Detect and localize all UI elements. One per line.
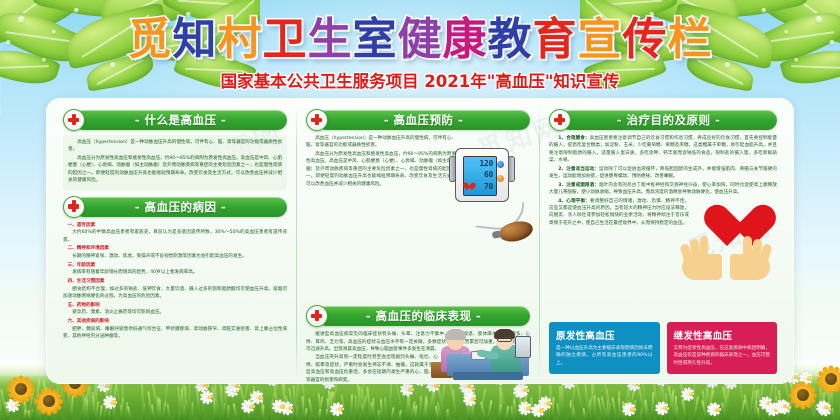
monitor-screen: 120 60 70 (463, 156, 497, 196)
title-char: 栏 (668, 18, 713, 62)
section-header-treatment: - 治疗目的及原则 - (549, 110, 777, 130)
monitor-button-blue (497, 161, 504, 168)
finger (700, 236, 709, 264)
paragraph: 当血压突升高到一定程度时甚至会出现剧烈头痛、呕吐、心悸、眩晕等症状，严重时会发生… (306, 354, 438, 384)
daisy-flower (710, 403, 724, 417)
desk-monitor (515, 336, 531, 358)
info-box-text: 是一种以血压升高为主要临床表现而病因尚未明确的独立疾病，占所有高血压患者的90%… (556, 345, 652, 367)
cause-text: 膳食结构不合理，如过多的钠盐、低钾饮食、大量饮酒、摄入过多的饱和脂肪酸均可使血压… (63, 286, 287, 301)
daisy-flower (534, 404, 548, 418)
treatment-item-title: 3、注意戒烟限酒： (558, 183, 599, 188)
finger (743, 236, 752, 264)
section-title-text: - 什么是高血压 - (135, 112, 227, 128)
title-char: 宣 (578, 18, 623, 62)
prevention-body: 高血压（hypertension）是一种动脉血压升高的慢性病，可伴有心、脑、肾等… (306, 135, 456, 188)
daisy-flower (521, 401, 535, 415)
section-title-bar: - 治疗目的及原则 - (560, 110, 777, 130)
poster-header: 觅知村卫生室健康教育宣传栏 国家基本公共卫生服务项目 2021年"高血压"知识宣… (0, 18, 840, 92)
causes-body: 一、遗传因素 大约60%的半数高血压患者有家族史。目前认为是多基因遗传所致，30… (63, 222, 287, 341)
grass-blade (308, 398, 314, 420)
daisy-flower (107, 395, 121, 409)
info-box-primary-hypertension: 原发性高血压 是一种以血压升高为主要临床表现而病因尚未明确的独立疾病，占所有高血… (549, 322, 659, 374)
title-char: 村 (218, 18, 263, 62)
grass-blade (561, 383, 564, 420)
title-char: 传 (623, 18, 668, 62)
daisy-flower (626, 403, 640, 417)
column-left: - 什么是高血压 - 高血压（hypertension）是一种动脉血压升高的慢性… (54, 106, 296, 378)
treatment-item: 3、注意戒烟限酒：烟叶内含有的尼古丁能中枢神经和交感神经兴奋，使心率加快，同时也… (549, 182, 777, 197)
daisy-flower (276, 400, 290, 414)
doctor-glasses-icon (497, 337, 512, 342)
grass-blade (350, 394, 353, 420)
cause-text: 大约60%的半数高血压患者有家族史。目前认为是多基因遗传所致，30%～50%的高… (63, 229, 287, 244)
grass-blade (591, 381, 593, 420)
paragraph: 高血压分为原发性高血压和继发性高血压，约90～95%的病例为原发性高血压。高血压… (306, 151, 456, 188)
title-char: 健 (398, 18, 443, 62)
sunflower (816, 364, 840, 394)
section-title-text: - 高血压的病因 - (135, 199, 227, 215)
title-char: 觅 (128, 18, 173, 62)
section-header-causes: - 高血压的病因 - (63, 197, 287, 217)
grass-blade (141, 384, 145, 420)
hand-left (680, 240, 724, 280)
section-header-prevention: - 高血压预防 - (306, 110, 530, 130)
grass-blade (166, 404, 170, 420)
info-box-title: 原发性高血压 (556, 328, 652, 342)
treatment-item: 4、心理平衡：要调整好自己的情绪，激动、恐惧、精神不佳，这些又都是使血压升高的原… (549, 198, 689, 228)
daisy-flower (403, 382, 417, 396)
daisy-flower (519, 383, 533, 397)
title-char: 康 (443, 18, 488, 62)
doctor-patient-illustration (429, 314, 537, 380)
section-title-text: - 治疗目的及原则 - (617, 112, 721, 128)
cause-title: 六、其他疾病的影响 (63, 318, 287, 325)
cause-title: 四、生活习惯因素 (63, 278, 287, 285)
paragraph: 高血压（hypertension）是一种动脉血压升高的慢性病，可伴有心、脑、肾等… (68, 139, 282, 154)
grass-blade (446, 409, 448, 420)
treatment-item: 2、注意适当运动：运动除了可以促进血液循环，降低胆固醇的生成外，并能增强肌肉、骨… (549, 166, 777, 181)
info-box-row: 原发性高血压 是一种以血压升高为主要临床表现而病因尚未明确的独立疾病，占所有高血… (549, 322, 777, 374)
daisy-flower (203, 390, 217, 404)
column-middle: - 高血压预防 - 高血压（hypertension）是一种动脉血压升高的慢性病… (297, 106, 539, 378)
cause-title: 五、药物的影响 (63, 302, 287, 309)
daisy-flower (245, 400, 259, 414)
treatment-item-title: 1、合理膳食： (558, 136, 589, 141)
what-is-hypertension-body: 高血压（hypertension）是一种动脉血压升高的慢性病，可伴有心、脑、肾等… (63, 135, 287, 190)
title-char: 卫 (263, 18, 308, 62)
patient-hair (445, 329, 466, 340)
grass-blade (384, 397, 387, 420)
section-title-bar: - 高血压预防 - (317, 110, 530, 130)
title-char: 生 (308, 18, 353, 62)
medical-cross-icon (306, 109, 328, 131)
poster-subtitle: 国家基本公共卫生服务项目 2021年"高血压"知识宣传 (0, 68, 840, 92)
grass-blade (128, 406, 133, 420)
poster-title: 觅知村卫生室健康教育宣传栏 (0, 18, 840, 62)
grass-blade (594, 395, 596, 420)
cause-text: 长期的精神紧张、激动、焦虑，受噪声或不良视觉刺激等因素也会引起高血压的发生。 (63, 253, 287, 260)
treatment-item-title: 2、注意适当运动： (558, 167, 599, 172)
cause-text: 避孕药、激素、消炎止痛药等均可影响血压。 (63, 309, 287, 316)
section-header-what-is-hypertension: - 什么是高血压 - (63, 110, 287, 130)
cause-title: 二、精神和环境因素 (63, 245, 287, 252)
hand-right (728, 240, 772, 280)
content-panel: 觅知网 觅知网 觅知网 - 什么是高血压 - 高血压（hypertension）… (46, 98, 794, 384)
info-box-secondary-hypertension: 继发性高血压 又称为症状性高血压，在这类疾病中病因明确，高血压仅是该种疾病的临床… (667, 322, 777, 374)
medical-cross-icon (63, 196, 85, 218)
grass-blade (487, 400, 492, 420)
cause-title: 三、年龄因素 (63, 262, 287, 269)
medical-cross-icon (549, 109, 571, 131)
heart-icon (467, 183, 476, 191)
cause-title: 一、遗传因素 (63, 222, 287, 229)
treatment-item-title: 4、心理平衡： (558, 199, 590, 204)
monitor-button-orange (497, 175, 504, 182)
water-drop (74, 8, 79, 13)
monitor-cuff-right (508, 156, 515, 182)
daisy-flower (684, 387, 698, 401)
section-title-bar: - 高血压的病因 - (74, 197, 287, 217)
grass-blade (513, 399, 517, 420)
grass-blade (380, 398, 383, 420)
systolic-reading: 120 (480, 159, 494, 168)
grass-blade (227, 405, 230, 420)
blood-pressure-monitor-illustration: 120 60 70 (449, 146, 535, 242)
info-box-title: 继发性高血压 (674, 328, 770, 342)
grass-blade (651, 392, 654, 420)
cause-text: 发病率有随着年龄增长而增高的趋势，40岁以上者发病率高。 (63, 269, 287, 276)
info-box-text: 又称为症状性高血压，在这类疾病中病因明确，高血压仅是该种疾病的临床表现之一，血压… (674, 345, 770, 367)
title-char: 育 (533, 18, 578, 62)
monitor-body: 120 60 70 (455, 148, 509, 202)
grass-blade (453, 389, 458, 420)
grass-blade (232, 403, 237, 420)
water-drop (761, 8, 766, 13)
sunflower (6, 374, 36, 404)
section-title-text: - 高血压预防 - (384, 112, 464, 128)
treatment-item: 1、合理膳食：高血压患者要注意调节自己的饮食习惯和作息习惯，养成良好的饮食习惯。… (549, 135, 777, 165)
grass-blade (262, 405, 264, 420)
diastolic-reading: 60 (484, 170, 493, 179)
column-right: - 治疗目的及原则 - 1、合理膳食：高血压患者要注意调节自己的饮食习惯和作息习… (540, 106, 786, 378)
paragraph: 高血压分为原发性高血压和继发性高血压，约90～95%的病例为原发性高血压。高血压… (68, 155, 282, 185)
title-char: 知 (173, 18, 218, 62)
heart-in-hands-illustration (680, 206, 772, 284)
sunflower (788, 380, 818, 410)
daisy-flower (819, 400, 833, 414)
medical-cross-icon (63, 109, 85, 131)
title-char: 室 (353, 18, 398, 62)
desk-front (453, 372, 523, 380)
daisy-flower (333, 402, 347, 416)
daisy-flower (658, 401, 672, 415)
grass-blade (191, 402, 194, 420)
paragraph: 高血压（hypertension）是一种动脉血压升高的慢性病，可伴有心、脑、肾等… (306, 135, 456, 150)
title-char: 教 (488, 18, 533, 62)
pulse-reading: 70 (484, 182, 493, 191)
section-title-bar: - 什么是高血压 - (74, 110, 287, 130)
cause-text: 肥胖、糖尿病、睡眠呼吸暂停低通气综合征、甲状腺疾病、肾动脉狭窄、肾脏实质损害、肾… (63, 326, 287, 341)
medical-cross-icon (306, 305, 328, 327)
daisy-flower (466, 392, 480, 406)
